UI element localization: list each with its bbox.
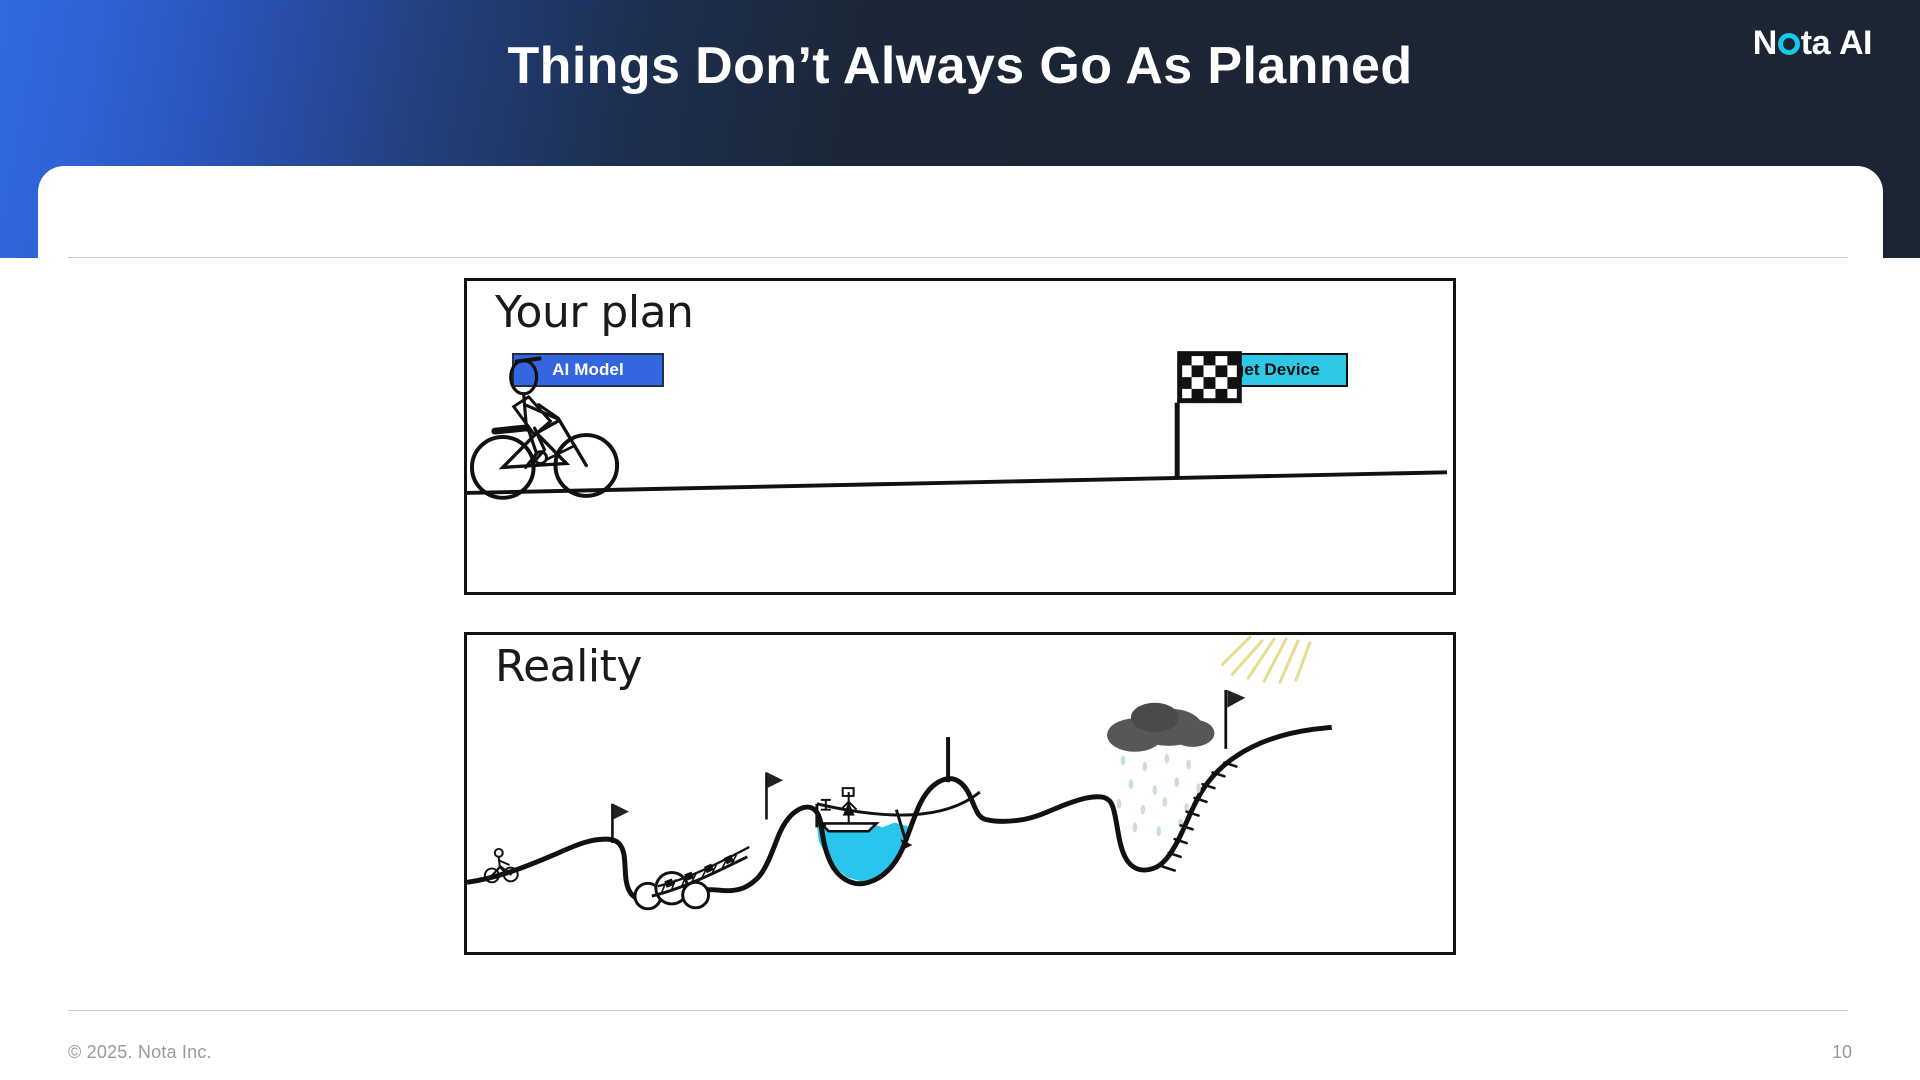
flag-icon: [1224, 690, 1245, 749]
brand-logo: NtaAI: [1753, 22, 1872, 64]
footer-page-number: 10: [1832, 1042, 1852, 1063]
checkered-flag-icon: [1175, 354, 1240, 480]
your-plan-panel: Your plan AI Model Target Device: [464, 278, 1456, 595]
bottom-divider: [68, 1010, 1848, 1011]
sun-rays-icon: [1222, 637, 1309, 682]
cyclist-icon: [472, 359, 617, 498]
reality-illustration: [467, 635, 1453, 952]
ladder-climb-icon: [1163, 763, 1237, 871]
footer-copyright: © 2025. Nota Inc.: [68, 1042, 212, 1063]
flag-icon: [765, 772, 783, 819]
logo-letter-n: N: [1753, 26, 1777, 60]
flag-icon: [611, 804, 629, 843]
logo-letters-ta: ta: [1801, 26, 1830, 60]
your-plan-illustration: [467, 281, 1453, 592]
page-title: Things Don’t Always Go As Planned: [0, 36, 1920, 97]
logo-text: NtaAI: [1753, 26, 1872, 60]
slide-root: Things Don’t Always Go As Planned NtaAI …: [0, 0, 1920, 1080]
logo-ring-o-icon: [1778, 33, 1800, 55]
top-divider: [68, 257, 1848, 258]
reality-panel: Reality: [464, 632, 1456, 955]
logo-letters-ai: AI: [1839, 26, 1872, 60]
pole-icon: [946, 737, 950, 782]
